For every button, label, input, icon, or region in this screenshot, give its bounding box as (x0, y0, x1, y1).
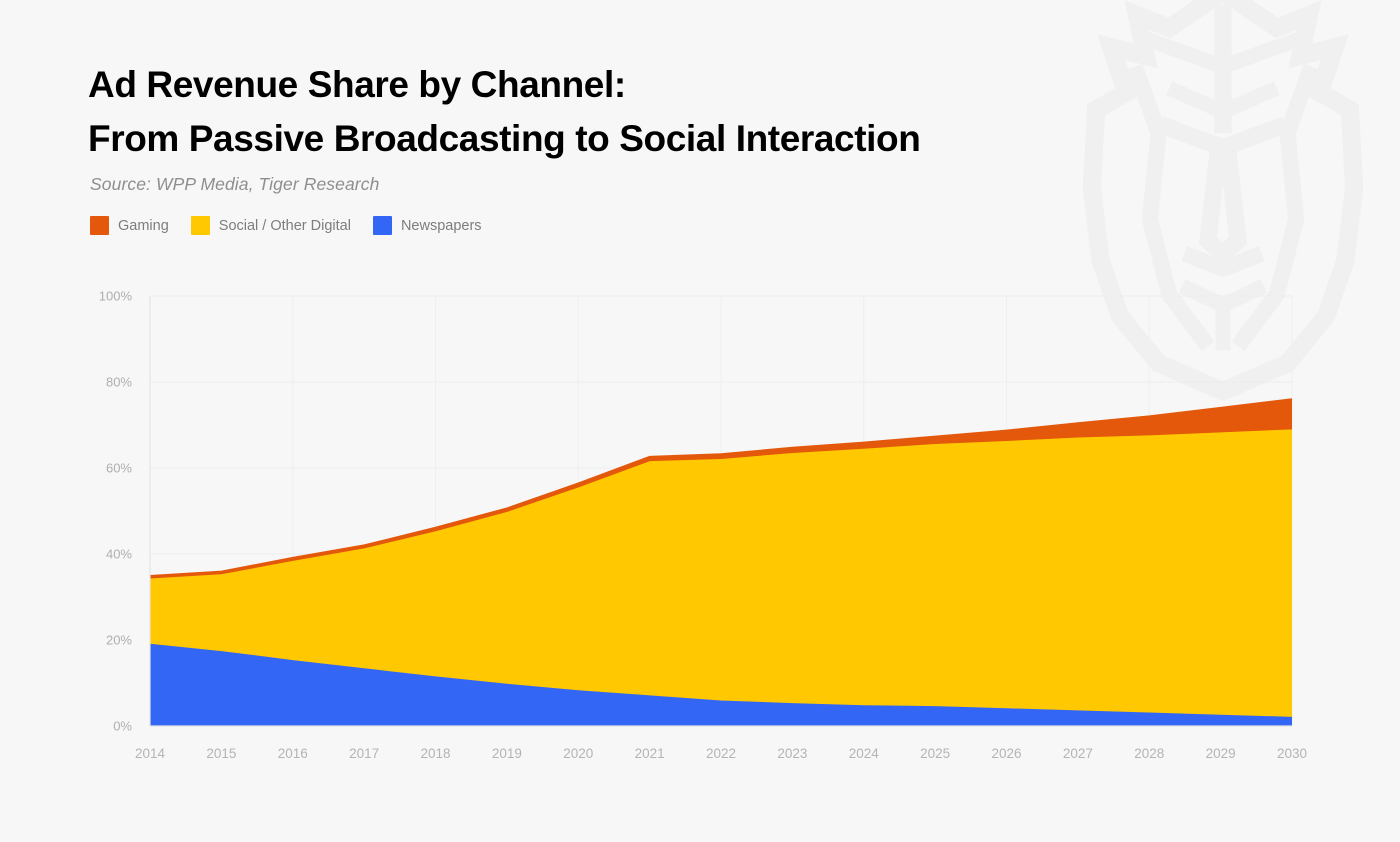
page-title: Ad Revenue Share by Channel: From Passiv… (88, 58, 920, 165)
x-tick-label: 2021 (635, 746, 665, 761)
y-tick-label: 100% (99, 289, 133, 304)
y-tick-label: 60% (106, 461, 132, 476)
legend-swatch-gaming (90, 216, 109, 235)
x-tick-label: 2017 (349, 746, 379, 761)
x-tick-label: 2015 (206, 746, 236, 761)
x-tick-label: 2028 (1134, 746, 1164, 761)
y-tick-label: 20% (106, 633, 132, 648)
title-line-2: From Passive Broadcasting to Social Inte… (88, 112, 920, 166)
x-tick-label: 2019 (492, 746, 522, 761)
legend-item-gaming[interactable]: Gaming (90, 216, 169, 235)
x-tick-label: 2023 (777, 746, 807, 761)
legend-swatch-social-other-digital (191, 216, 210, 235)
x-tick-label: 2024 (849, 746, 880, 761)
legend-label-gaming: Gaming (118, 218, 169, 234)
legend-swatch-newspapers (373, 216, 392, 235)
title-line-1: Ad Revenue Share by Channel: (88, 64, 626, 105)
y-axis-tick-labels: 0%20%40%60%80%100% (99, 289, 133, 734)
chart-legend: Gaming Social / Other Digital Newspapers (90, 216, 482, 235)
y-tick-label: 80% (106, 375, 132, 390)
chart-header: Ad Revenue Share by Channel: From Passiv… (88, 58, 920, 195)
x-tick-label: 2025 (920, 746, 950, 761)
y-tick-label: 40% (106, 547, 132, 562)
x-tick-label: 2027 (1063, 746, 1093, 761)
legend-label-newspapers: Newspapers (401, 218, 482, 234)
x-tick-label: 2030 (1277, 746, 1307, 761)
x-tick-label: 2022 (706, 746, 736, 761)
legend-label-social-other-digital: Social / Other Digital (219, 218, 351, 234)
legend-item-social-other-digital[interactable]: Social / Other Digital (191, 216, 351, 235)
x-tick-label: 2016 (278, 746, 308, 761)
source-caption: Source: WPP Media, Tiger Research (90, 174, 920, 195)
x-axis-tick-labels: 2014201520162017201820192020202120222023… (135, 746, 1307, 761)
x-tick-label: 2020 (563, 746, 593, 761)
chart-page: Ad Revenue Share by Channel: From Passiv… (0, 0, 1400, 842)
x-tick-label: 2014 (135, 746, 166, 761)
x-tick-label: 2018 (420, 746, 450, 761)
x-tick-label: 2029 (1206, 746, 1236, 761)
x-tick-label: 2026 (991, 746, 1021, 761)
y-tick-label: 0% (113, 719, 132, 734)
legend-item-newspapers[interactable]: Newspapers (373, 216, 482, 235)
